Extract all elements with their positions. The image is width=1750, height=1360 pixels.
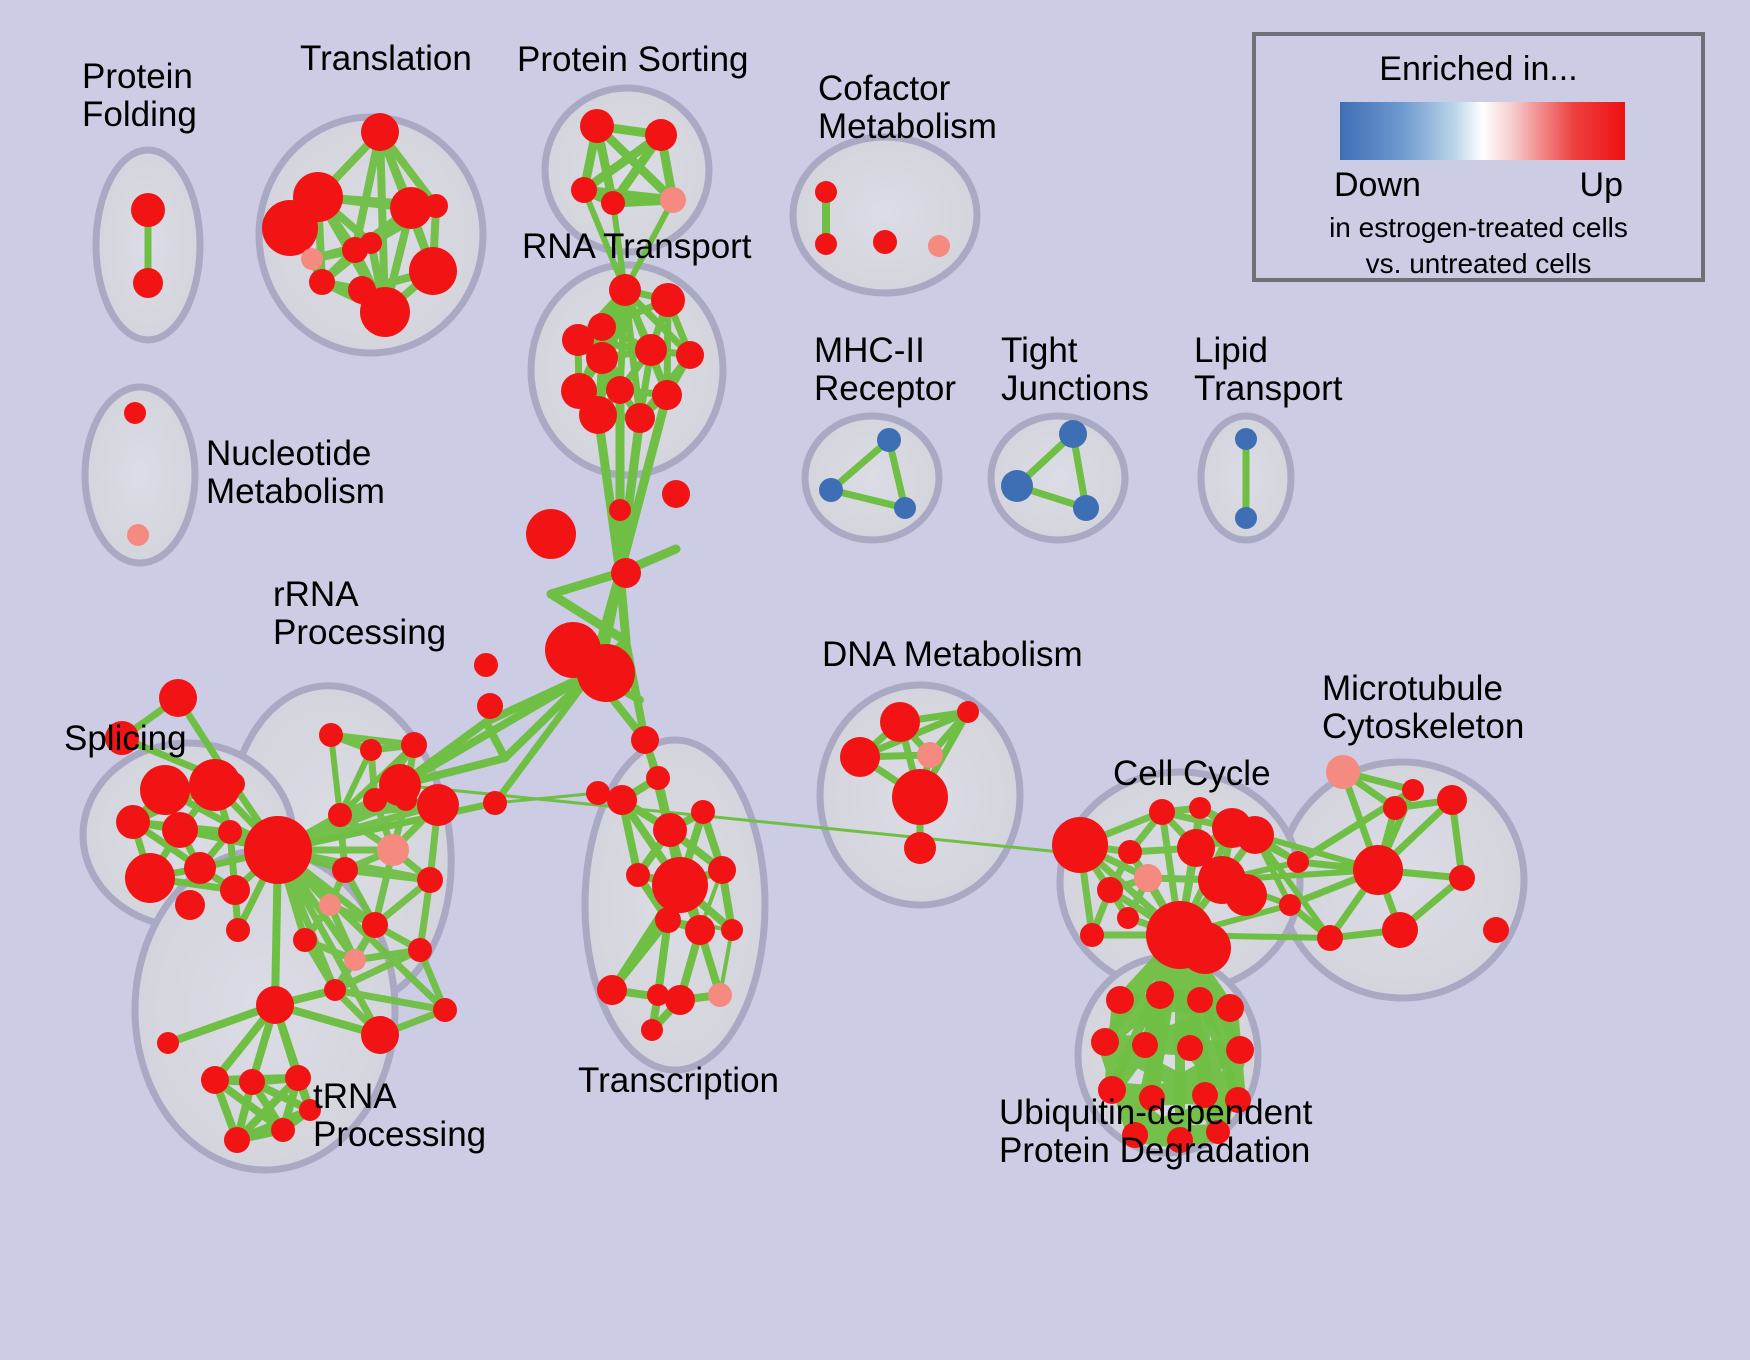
node	[239, 1069, 265, 1095]
node	[646, 766, 670, 790]
node	[1080, 923, 1104, 947]
node	[815, 233, 837, 255]
node	[1225, 1087, 1251, 1113]
node	[660, 187, 686, 213]
node	[1226, 1036, 1254, 1064]
node	[645, 119, 677, 151]
node	[691, 800, 715, 824]
node	[1216, 994, 1244, 1022]
node	[332, 857, 358, 883]
node	[651, 283, 685, 317]
node	[175, 890, 205, 920]
node	[676, 341, 704, 369]
node	[271, 1118, 295, 1142]
node	[1206, 1120, 1230, 1144]
node	[957, 701, 979, 723]
node	[1117, 907, 1139, 929]
node	[904, 832, 936, 864]
node	[324, 979, 346, 1001]
node	[1402, 779, 1424, 801]
node	[1235, 428, 1257, 450]
node	[226, 918, 250, 942]
node	[609, 499, 631, 521]
node	[360, 287, 410, 337]
node	[1437, 785, 1467, 815]
legend-low-label: Down	[1334, 166, 1421, 205]
node	[377, 834, 409, 866]
node	[1091, 1028, 1119, 1056]
node	[579, 396, 617, 434]
legend-caption-line-2: vs. untreated cells	[1256, 248, 1701, 280]
node	[1353, 845, 1403, 895]
node	[880, 702, 920, 742]
node	[244, 816, 312, 884]
node	[105, 721, 139, 755]
node	[1167, 1127, 1193, 1153]
node	[1287, 851, 1309, 873]
node	[201, 1066, 229, 1094]
node	[328, 803, 352, 827]
legend-color-gradient-bar	[1340, 102, 1625, 160]
node	[361, 113, 399, 151]
node	[708, 983, 732, 1007]
node	[1383, 796, 1407, 820]
enrichment-map-figure: Protein Folding Translation Protein Sort…	[0, 0, 1750, 1360]
node	[631, 726, 659, 754]
node	[577, 644, 635, 702]
node	[319, 894, 341, 916]
node	[1189, 797, 1211, 819]
node	[647, 984, 669, 1006]
node	[1132, 1032, 1158, 1058]
node	[894, 497, 916, 519]
node	[360, 232, 382, 254]
node	[815, 181, 837, 203]
node	[344, 949, 366, 971]
node	[607, 785, 637, 815]
node	[408, 938, 432, 962]
node	[477, 693, 503, 719]
node	[1317, 925, 1343, 951]
node	[1073, 495, 1099, 521]
node	[580, 109, 614, 143]
node	[877, 428, 901, 452]
node	[127, 524, 149, 546]
node	[184, 852, 216, 884]
node	[662, 480, 690, 508]
legend-title: Enriched in...	[1256, 50, 1701, 89]
node	[721, 919, 743, 941]
node	[1235, 507, 1257, 529]
node	[1236, 816, 1274, 854]
node	[606, 376, 634, 404]
node	[309, 269, 335, 295]
node	[1059, 420, 1087, 448]
node	[424, 194, 448, 218]
node	[221, 772, 245, 796]
node	[928, 235, 950, 257]
cluster-ellipse-mhc-ii-receptor	[805, 416, 939, 540]
legend-panel: Enriched in... Down Up in estrogen-treat…	[1252, 32, 1705, 282]
node	[1139, 1085, 1165, 1111]
node	[1449, 865, 1475, 891]
node	[571, 177, 597, 203]
node	[133, 268, 163, 298]
node	[655, 907, 681, 933]
node	[218, 820, 242, 844]
node	[124, 402, 146, 424]
node	[220, 875, 250, 905]
node	[597, 975, 627, 1005]
node	[1118, 840, 1142, 864]
node	[1382, 912, 1418, 948]
node	[256, 986, 294, 1024]
node	[873, 230, 897, 254]
cluster-ellipse-cofactor-metabolism	[793, 137, 977, 293]
node	[319, 723, 343, 747]
node	[483, 791, 507, 815]
node	[417, 784, 459, 826]
cluster-ellipse-protein-sorting	[545, 88, 709, 252]
node	[601, 191, 625, 215]
node	[301, 248, 323, 270]
node	[1279, 894, 1301, 916]
node	[125, 853, 175, 903]
node	[361, 1016, 399, 1054]
node	[1177, 1035, 1203, 1061]
node	[116, 805, 150, 839]
node	[1097, 877, 1123, 903]
node	[526, 509, 576, 559]
node	[653, 813, 687, 847]
node	[611, 558, 641, 588]
node	[474, 653, 498, 677]
node	[840, 737, 880, 777]
node	[665, 985, 695, 1015]
node	[1052, 817, 1108, 873]
node	[625, 403, 655, 433]
node	[379, 764, 421, 806]
node	[1122, 1122, 1148, 1148]
node	[409, 247, 457, 295]
node	[685, 915, 715, 945]
node	[285, 1065, 311, 1091]
node	[1106, 986, 1134, 1014]
node	[892, 769, 948, 825]
node	[586, 342, 618, 374]
node	[1187, 987, 1213, 1013]
node	[641, 1019, 663, 1041]
node	[131, 193, 165, 227]
node	[417, 867, 443, 893]
node	[635, 334, 667, 366]
node	[652, 857, 708, 913]
node	[433, 998, 457, 1022]
node	[1483, 917, 1509, 943]
node	[819, 478, 843, 502]
node	[1149, 799, 1175, 825]
node	[1326, 755, 1360, 789]
node	[1225, 874, 1267, 916]
node	[360, 739, 382, 761]
node	[917, 742, 943, 768]
legend-caption-line-1: in estrogen-treated cells	[1256, 212, 1701, 244]
node	[293, 928, 317, 952]
node	[586, 781, 610, 805]
node	[262, 200, 318, 256]
node	[1146, 981, 1174, 1009]
node	[1098, 1076, 1126, 1104]
node	[162, 812, 198, 848]
node	[609, 274, 641, 306]
legend-high-label: Up	[1580, 166, 1623, 205]
node	[159, 679, 197, 717]
node	[626, 863, 650, 887]
node	[224, 1127, 250, 1153]
node	[1192, 1082, 1218, 1108]
node	[652, 380, 682, 410]
node	[708, 856, 736, 884]
node	[1134, 864, 1162, 892]
node	[401, 732, 427, 758]
node	[1179, 922, 1231, 974]
node	[362, 912, 388, 938]
node	[140, 765, 190, 815]
node	[299, 1099, 321, 1121]
node	[157, 1032, 179, 1054]
node	[1001, 470, 1033, 502]
